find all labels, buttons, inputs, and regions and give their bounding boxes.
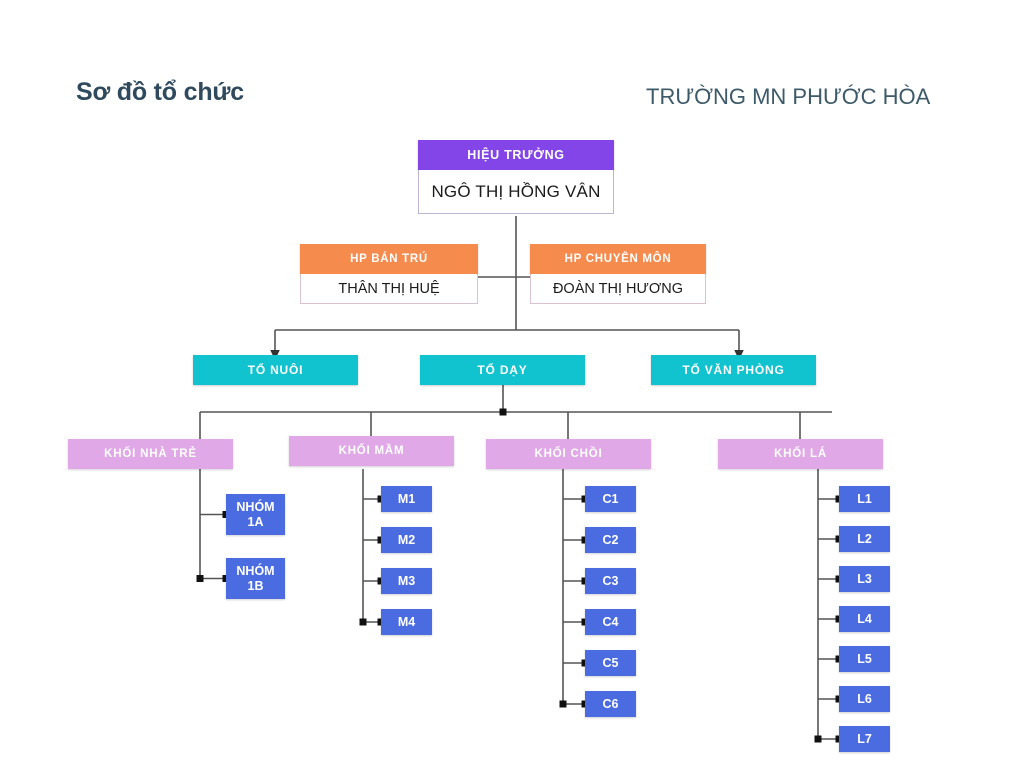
class-label: C1 (603, 492, 619, 506)
class-label: L6 (857, 692, 872, 706)
node-block-choi[interactable]: KHỐI CHỒI (486, 439, 651, 469)
node-team-van-phong[interactable]: TỔ VĂN PHÒNG (651, 355, 816, 385)
class-label: NHÓM (236, 500, 274, 514)
block-label: KHỐI CHỒI (535, 448, 603, 460)
vice-principal-name: ĐOÀN THỊ HƯƠNG (530, 274, 706, 304)
node-class-m3[interactable]: M3 (381, 568, 432, 594)
block-label: KHỐI LÁ (774, 448, 827, 460)
vice-principal-name: THÂN THỊ HUỆ (300, 274, 478, 304)
node-vice-principal-chuyen-mon[interactable]: HP CHUYÊN MÔN ĐOÀN THỊ HƯƠNG (530, 244, 706, 304)
class-label: L2 (857, 532, 872, 546)
node-team-nuoi[interactable]: TỔ NUÔI (193, 355, 358, 385)
node-class-l6[interactable]: L6 (839, 686, 890, 712)
class-label: NHÓM (236, 564, 274, 578)
class-label: C3 (603, 574, 619, 588)
node-vice-principal-ban-tru[interactable]: HP BÁN TRÚ THÂN THỊ HUỆ (300, 244, 478, 304)
principal-name: NGÔ THỊ HỒNG VÂN (418, 170, 614, 214)
vice-principal-role: HP BÁN TRÚ (300, 244, 478, 274)
node-class-c2[interactable]: C2 (585, 527, 636, 553)
node-class-l4[interactable]: L4 (839, 606, 890, 632)
node-block-mam[interactable]: KHỐI MẦM (289, 436, 454, 466)
node-class-c5[interactable]: C5 (585, 650, 636, 676)
org-chart-canvas: Sơ đồ tổ chức TRƯỜNG MN PHƯỚC HÒA (0, 0, 1024, 768)
class-label: L7 (857, 732, 872, 746)
class-label: C4 (603, 615, 619, 629)
class-label: M2 (398, 533, 415, 547)
node-block-nha-tre[interactable]: KHỐI NHÀ TRẺ (68, 439, 233, 469)
node-class-l2[interactable]: L2 (839, 526, 890, 552)
node-class-c6[interactable]: C6 (585, 691, 636, 717)
class-label: M1 (398, 492, 415, 506)
class-label: M4 (398, 615, 415, 629)
block-label: KHỐI NHÀ TRẺ (104, 448, 197, 460)
team-label: TỔ VĂN PHÒNG (682, 363, 784, 377)
class-label: L5 (857, 652, 872, 666)
node-class-c4[interactable]: C4 (585, 609, 636, 635)
class-label: L1 (857, 492, 872, 506)
team-label: TỔ NUÔI (248, 363, 304, 377)
node-class-nhóm-1b[interactable]: NHÓM1B (226, 558, 285, 599)
node-class-m2[interactable]: M2 (381, 527, 432, 553)
block-label: KHỐI MẦM (339, 445, 405, 457)
node-class-m1[interactable]: M1 (381, 486, 432, 512)
class-label: C6 (603, 697, 619, 711)
class-label-secondary: 1B (248, 579, 264, 593)
node-class-l1[interactable]: L1 (839, 486, 890, 512)
node-class-l7[interactable]: L7 (839, 726, 890, 752)
node-team-day[interactable]: TỔ DẠY (420, 355, 585, 385)
node-class-nhóm-1a[interactable]: NHÓM1A (226, 494, 285, 535)
class-label: M3 (398, 574, 415, 588)
team-label: TỔ DẠY (477, 363, 527, 377)
organization-name: TRƯỜNG MN PHƯỚC HÒA (646, 84, 930, 110)
node-class-l3[interactable]: L3 (839, 566, 890, 592)
node-class-c1[interactable]: C1 (585, 486, 636, 512)
node-block-la[interactable]: KHỐI LÁ (718, 439, 883, 469)
junction-dot (500, 409, 507, 416)
class-label: C2 (603, 533, 619, 547)
node-class-l5[interactable]: L5 (839, 646, 890, 672)
node-class-c3[interactable]: C3 (585, 568, 636, 594)
class-label: C5 (603, 656, 619, 670)
page-title: Sơ đồ tổ chức (76, 78, 244, 107)
vice-principal-role: HP CHUYÊN MÔN (530, 244, 706, 274)
class-label: L3 (857, 572, 872, 586)
principal-role: HIỆU TRƯỞNG (418, 140, 614, 170)
class-label-secondary: 1A (248, 515, 264, 529)
class-label: L4 (857, 612, 872, 626)
node-principal[interactable]: HIỆU TRƯỞNG NGÔ THỊ HỒNG VÂN (418, 140, 614, 214)
node-class-m4[interactable]: M4 (381, 609, 432, 635)
